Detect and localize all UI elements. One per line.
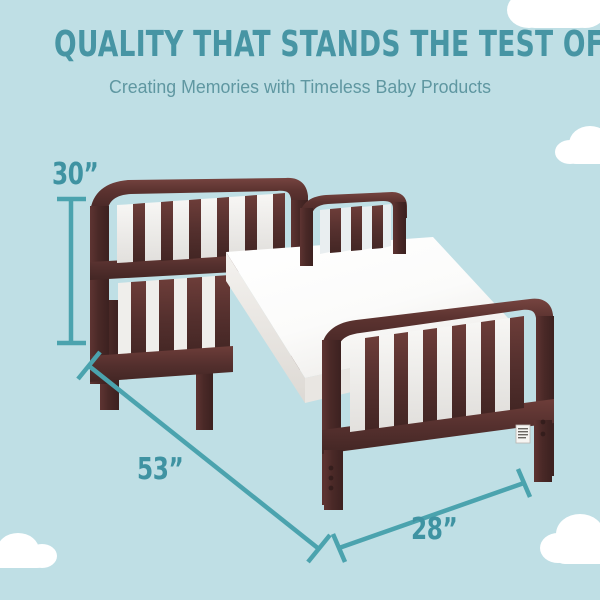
dimension-label-width: 28” (411, 515, 457, 545)
dimension-line-height (57, 199, 86, 343)
page-subtitle: Creating Memories with Timeless Baby Pro… (12, 76, 588, 98)
infographic-canvas: QUALITY THAT STANDS THE TEST OF TIME Cre… (0, 0, 600, 600)
dimension-label-height: 30” (52, 160, 98, 190)
dimension-line-length (78, 352, 330, 562)
page-headline: QUALITY THAT STANDS THE TEST OF TIME (54, 26, 546, 64)
dimension-label-length: 53” (137, 455, 183, 485)
